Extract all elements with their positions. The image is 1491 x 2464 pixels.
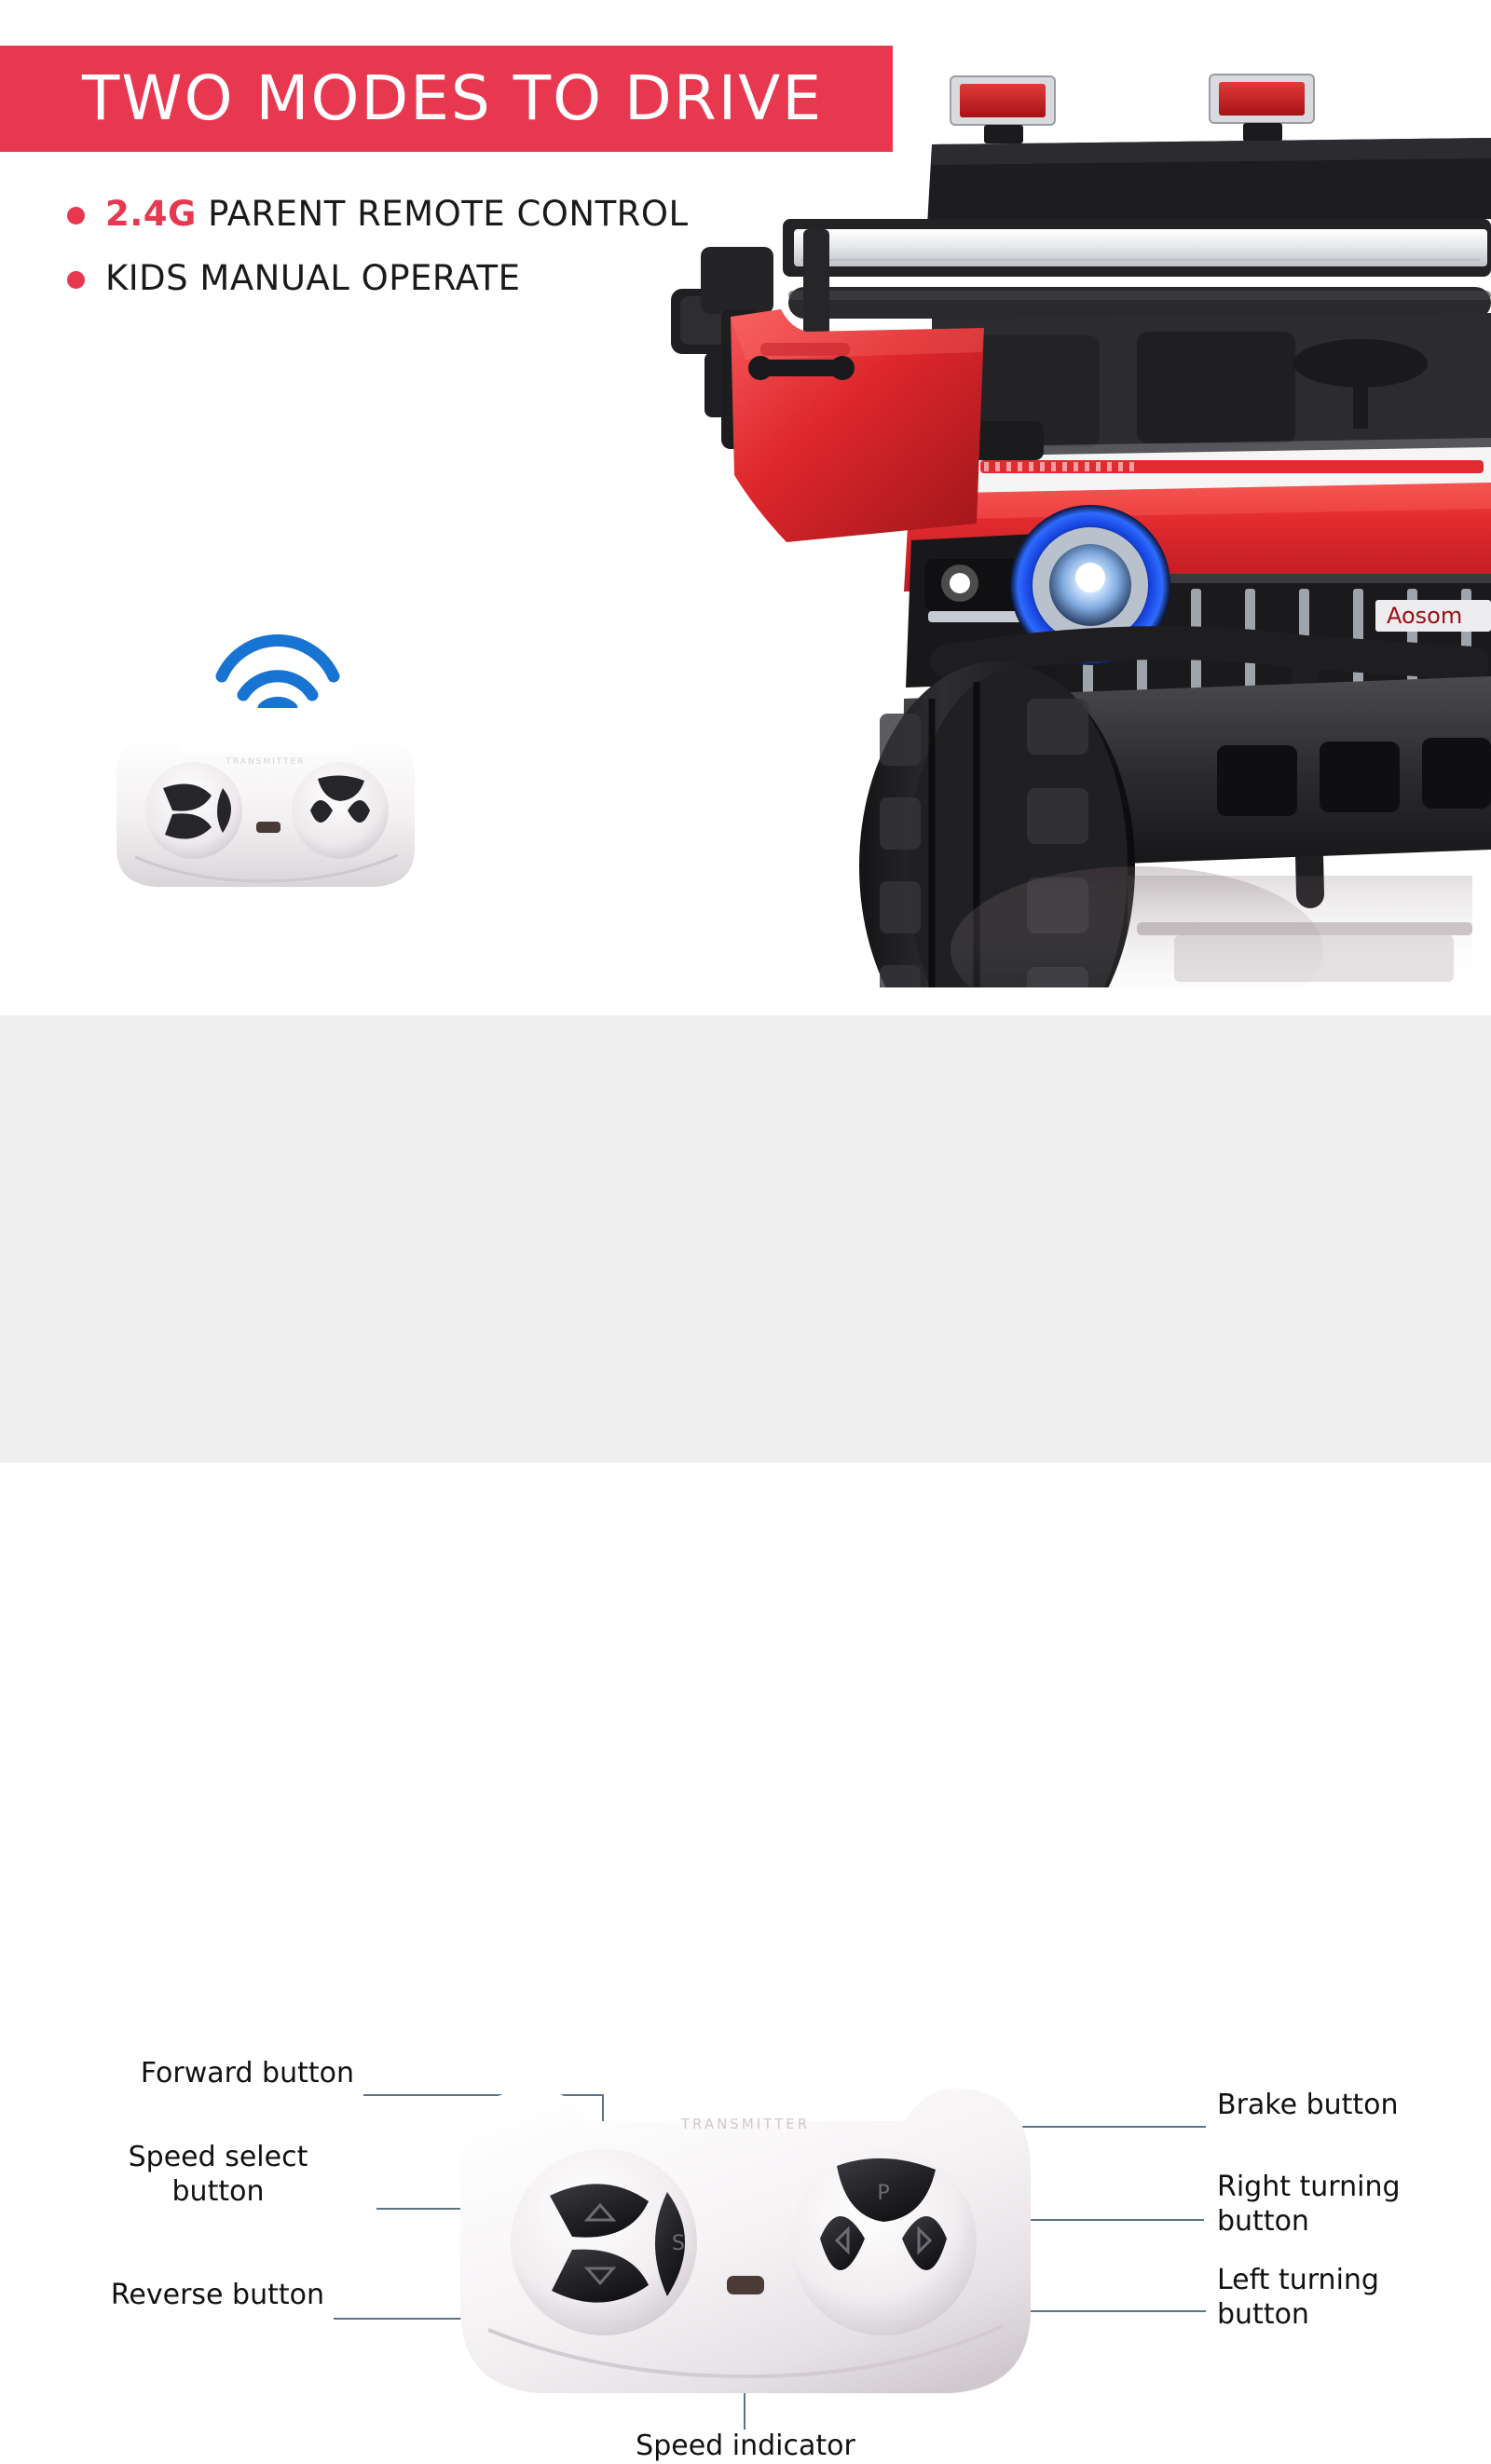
roof-warning-lamp-left xyxy=(951,76,1055,143)
brake-glyph: P xyxy=(877,2182,889,2205)
speed-indicator-led xyxy=(727,2276,764,2294)
speed-select-glyph: S xyxy=(672,2232,685,2255)
remote-imprint-text: TRANSMITTER xyxy=(680,2116,810,2132)
top-hero-section: Aosom xyxy=(0,0,1491,1015)
parent-remote-control-photo: TRANSMITTER xyxy=(107,717,424,894)
feature-accent-24g: 2.4G xyxy=(105,194,197,234)
svg-text:TRANSMITTER: TRANSMITTER xyxy=(225,757,305,767)
feature-list: 2.4G PARENT REMOTE CONTROL KIDS MANUAL O… xyxy=(67,194,831,322)
footer-spacer xyxy=(0,1463,1491,1491)
label-brake-button: Brake button xyxy=(1217,2089,1487,2123)
label-left-turning-button: Left turning button xyxy=(1217,2264,1487,2332)
feature-item-remote: 2.4G PARENT REMOTE CONTROL xyxy=(67,194,831,234)
brand-name: Aosom xyxy=(1387,603,1462,629)
feature-text-remote: PARENT REMOTE CONTROL xyxy=(197,194,689,234)
led-light-bar xyxy=(783,219,1491,277)
label-speed-select-button: Speed select button xyxy=(73,2141,363,2209)
dash-red-stripe xyxy=(980,460,1484,473)
label-speed-indicator: Speed indicator xyxy=(596,2430,895,2464)
feature-item-manual: KIDS MANUAL OPERATE xyxy=(67,258,831,298)
label-right-turning-button: Right turning button xyxy=(1217,2171,1487,2239)
feature-label-remote: 2.4G PARENT REMOTE CONTROL xyxy=(105,194,689,234)
brand-plate: Aosom xyxy=(1375,600,1491,632)
bumper-pads xyxy=(1217,738,1491,816)
wifi-signal-icon xyxy=(212,626,343,708)
bullet-dot-icon xyxy=(67,271,85,289)
remote-diagram-section: TRANSMITTER S P Forward xyxy=(0,1015,1491,1463)
label-reverse-button: Reverse button xyxy=(45,2279,324,2313)
bullet-dot-icon xyxy=(67,207,85,225)
remote-control-diagram: TRANSMITTER S P xyxy=(447,2063,1044,2408)
speed-indicator xyxy=(256,822,280,833)
headline-banner: TWO MODES TO DRIVE xyxy=(0,46,893,152)
page-title: TWO MODES TO DRIVE xyxy=(0,68,823,129)
roof-warning-lamp-right xyxy=(1210,75,1314,142)
feature-label-manual: KIDS MANUAL OPERATE xyxy=(105,258,521,298)
label-forward-button: Forward button xyxy=(56,2057,354,2091)
